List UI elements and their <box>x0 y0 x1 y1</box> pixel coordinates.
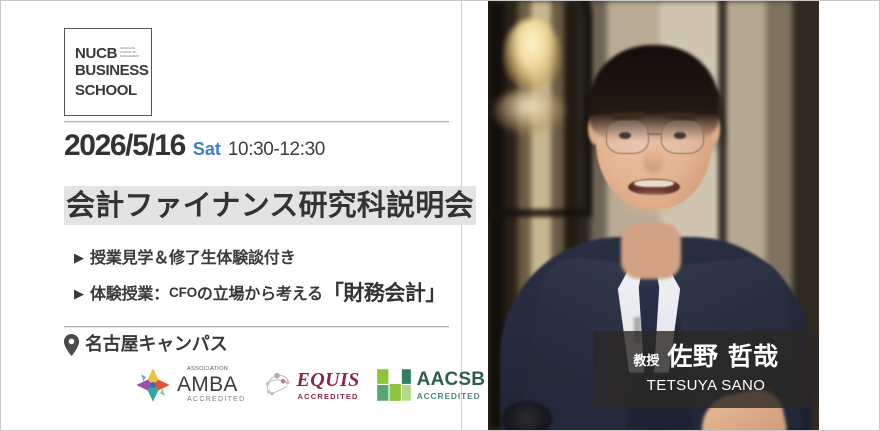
campus-location: 名古屋キャンパス <box>63 334 227 356</box>
logo-tagline: GRADUATE SCHOOL OF MANAGEMENT <box>120 46 140 59</box>
portrait-teeth <box>634 180 674 187</box>
portrait-glasses-bridge <box>647 133 661 135</box>
equis-network-icon <box>262 370 292 400</box>
equis-status: ACCREDITED <box>297 393 360 401</box>
aacsb-status: ACCREDITED <box>417 392 486 400</box>
equis-accreditation-logo: EQUIS ACCREDITED <box>262 370 360 401</box>
accreditation-logos: ASSOCIATION AMBA ACCREDITED <box>134 366 485 404</box>
amba-name: AMBA <box>177 374 246 395</box>
speaker-name-japanese: 教授 佐野 哲哉 <box>633 344 778 369</box>
divider-top <box>64 121 449 123</box>
amba-status: ACCREDITED <box>187 396 246 403</box>
bullet-1-text: 授業見学＆修了生体験談付き <box>90 248 295 267</box>
list-item: ▶ 授業見学＆修了生体験談付き <box>74 248 295 267</box>
event-datetime: 2026/5/16 Sat 10:30-12:30 <box>64 131 325 161</box>
logo-nucb-text: NUCB <box>75 46 117 61</box>
triangle-right-icon: ▶ <box>74 287 84 300</box>
amba-association-label: ASSOCIATION <box>187 367 246 373</box>
portrait-neck <box>621 223 681 279</box>
equis-name: EQUIS <box>297 370 360 390</box>
event-date: 2026/5/16 <box>64 131 185 161</box>
seminar-banner: NUCB GRADUATE SCHOOL OF MANAGEMENT BUSIN… <box>0 0 880 431</box>
divider-bottom <box>64 326 449 328</box>
aacsb-name: AACSB <box>417 370 486 389</box>
portrait-glasses-lens-right <box>661 121 704 154</box>
portrait-chin <box>622 193 680 215</box>
logo-business-text: BUSINESS <box>75 61 147 81</box>
list-item: ▶ 体験授業： CFO の立場から考える 「財務会計」 <box>74 283 446 304</box>
event-time: 10:30-12:30 <box>228 140 325 159</box>
nucb-business-school-logo: NUCB GRADUATE SCHOOL OF MANAGEMENT BUSIN… <box>64 28 152 116</box>
event-day-of-week: Sat <box>193 140 221 158</box>
portrait-wristwatch <box>502 401 552 430</box>
speaker-name-romaji: TETSUYA SANO <box>647 378 766 393</box>
bullet-2-latin: CFO <box>169 285 197 301</box>
speaker-name-plate: 教授 佐野 哲哉 TETSUYA SANO <box>593 331 819 408</box>
aacsb-blocks-icon <box>376 367 412 403</box>
right-margin <box>819 1 879 430</box>
logo-tagline-line3: MANAGEMENT <box>120 56 140 59</box>
event-info-panel: NUCB GRADUATE SCHOOL OF MANAGEMENT BUSIN… <box>1 1 462 430</box>
bullet-2-prefix: 体験授業： <box>90 284 169 303</box>
bullet-2-emphasis: 「財務会計」 <box>323 283 446 304</box>
logo-school-text: SCHOOL <box>75 81 147 101</box>
speaker-photo: 教授 佐野 哲哉 TETSUYA SANO <box>488 1 819 430</box>
portrait-glasses-lens-left <box>606 121 649 154</box>
amba-accreditation-logo: ASSOCIATION AMBA ACCREDITED <box>134 366 246 404</box>
location-pin-icon <box>63 334 80 356</box>
amba-diamond-icon <box>134 366 172 404</box>
campus-name: 名古屋キャンパス <box>85 336 227 354</box>
page-title: 会計ファイナンス研究科説明会 <box>64 186 476 225</box>
portrait-nose <box>643 145 663 173</box>
bullet-2-middle: の立場から考える <box>197 284 323 303</box>
speaker-title: 教授 <box>633 355 659 368</box>
triangle-right-icon: ▶ <box>74 251 84 264</box>
speaker-name: 佐野 哲哉 <box>667 344 778 369</box>
aacsb-accreditation-logo: AACSB ACCREDITED <box>376 367 486 403</box>
